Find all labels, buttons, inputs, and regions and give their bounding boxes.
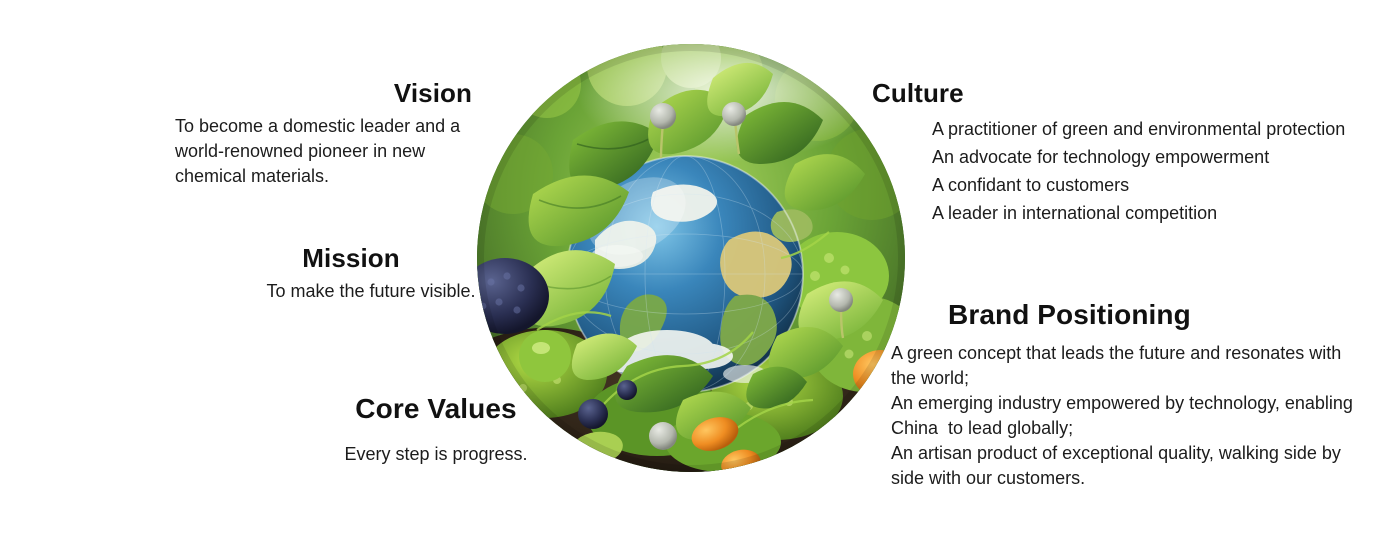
vision-line: world-renowned pioneer in new (175, 139, 505, 164)
culture-body: A practitioner of green and environmenta… (932, 115, 1392, 227)
core-values-heading: Core Values (330, 392, 580, 425)
brand-positioning-line: An emerging industry empowered by techno… (891, 391, 1371, 416)
brand-positioning-line: A green concept that leads the future an… (891, 341, 1371, 366)
core-values-body: Every step is progress. (330, 442, 580, 467)
vision-heading: Vision (175, 78, 505, 108)
vision-body: To become a domestic leader and a world-… (175, 114, 505, 189)
vision-line: chemical materials. (175, 164, 505, 189)
vision-line: To become a domestic leader and a (175, 114, 505, 139)
mission-body: To make the future visible. (236, 279, 506, 304)
culture-line: A practitioner of green and environmenta… (932, 115, 1392, 143)
brand-positioning-line: side with our customers. (891, 466, 1371, 491)
section-vision: Vision To become a domestic leader and a… (175, 78, 505, 189)
section-culture: Culture A practitioner of green and envi… (872, 78, 1392, 227)
mission-heading: Mission (236, 243, 506, 273)
brand-positioning-body: A green concept that leads the future an… (891, 341, 1371, 491)
culture-line: An advocate for technology empowerment (932, 143, 1392, 171)
culture-heading: Culture (872, 78, 1392, 108)
section-core-values: Core Values Every step is progress. (330, 392, 580, 467)
brand-positioning-heading: Brand Positioning (948, 298, 1371, 331)
culture-line: A confidant to customers (932, 171, 1392, 199)
mission-line: To make the future visible. (236, 279, 506, 304)
section-brand-positioning: Brand Positioning A green concept that l… (891, 298, 1371, 491)
brand-positioning-line: An artisan product of exceptional qualit… (891, 441, 1371, 466)
infographic-canvas: Vision To become a domestic leader and a… (0, 0, 1400, 534)
culture-line: A leader in international competition (932, 199, 1392, 227)
core-values-line: Every step is progress. (330, 442, 542, 467)
brand-positioning-line: China to lead globally; (891, 416, 1371, 441)
section-mission: Mission To make the future visible. (236, 243, 506, 304)
brand-positioning-line: the world; (891, 366, 1371, 391)
